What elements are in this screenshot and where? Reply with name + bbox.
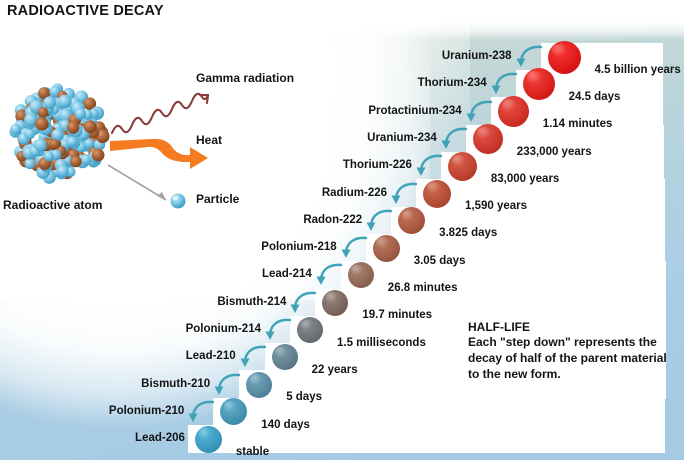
isotope-circle [272, 344, 298, 370]
half-life-value: 1.5 milliseconds [337, 337, 426, 349]
isotope-name: Uranium-234 [367, 132, 437, 144]
isotope-name: Uranium-238 [442, 50, 512, 62]
isotope-circle [373, 235, 400, 262]
isotope-name: Polonium-214 [186, 323, 261, 335]
half-life-value: 26.8 minutes [388, 282, 458, 294]
isotope-circle [246, 372, 272, 398]
isotope-circle [523, 68, 555, 100]
half-life-value: stable [236, 446, 269, 458]
isotope-name: Lead-210 [186, 350, 236, 362]
half-life-value: 5 days [286, 391, 322, 403]
half-life-value: 83,000 years [491, 173, 559, 185]
step-block [366, 234, 666, 262]
half-life-body: Each "step down" represents the decay of… [468, 335, 673, 383]
half-life-value: 22 years [312, 364, 358, 376]
isotope-circle [423, 180, 451, 208]
isotope-name: Lead-214 [262, 268, 312, 280]
isotope-circle [322, 290, 348, 316]
isotope-circle [498, 96, 529, 127]
half-life-value: 3.05 days [414, 255, 466, 267]
isotope-name: Bismuth-214 [217, 296, 286, 308]
isotope-name: Bismuth-210 [141, 378, 210, 390]
half-life-value: 233,000 years [517, 146, 592, 158]
half-life-heading: HALF-LIFE [468, 320, 673, 334]
half-life-value: 1.14 minutes [543, 118, 613, 130]
isotope-name: Radium-226 [322, 187, 387, 199]
isotope-circle [448, 152, 477, 181]
isotope-circle [195, 426, 222, 453]
half-life-value: 3.825 days [439, 227, 497, 239]
half-life-value: 19.7 minutes [362, 309, 432, 321]
half-life-value: 4.5 billion years [595, 64, 681, 76]
isotope-name: Protactinium-234 [368, 105, 461, 117]
isotope-name: Radon-222 [303, 214, 362, 226]
half-life-value: 1,590 years [465, 200, 527, 212]
isotope-circle [297, 317, 323, 343]
isotope-circle [348, 262, 374, 288]
isotope-name: Polonium-210 [109, 405, 184, 417]
radioactive-decay-infographic: RADIOACTIVE DECAY Radioactive atom [0, 0, 684, 460]
isotope-name: Polonium-218 [261, 241, 336, 253]
decay-chain: Uranium-2384.5 billion yearsThorium-2342… [0, 0, 684, 460]
isotope-name: Thorium-226 [343, 159, 412, 171]
half-life-callout: HALF-LIFE Each "step down" represents th… [468, 320, 673, 383]
isotope-name: Lead-206 [135, 432, 185, 444]
half-life-value: 140 days [261, 419, 310, 431]
half-life-value: 24.5 days [569, 91, 621, 103]
isotope-circle [548, 41, 581, 74]
isotope-name: Thorium-234 [418, 77, 487, 89]
step-block [391, 207, 665, 235]
isotope-circle [473, 124, 503, 154]
